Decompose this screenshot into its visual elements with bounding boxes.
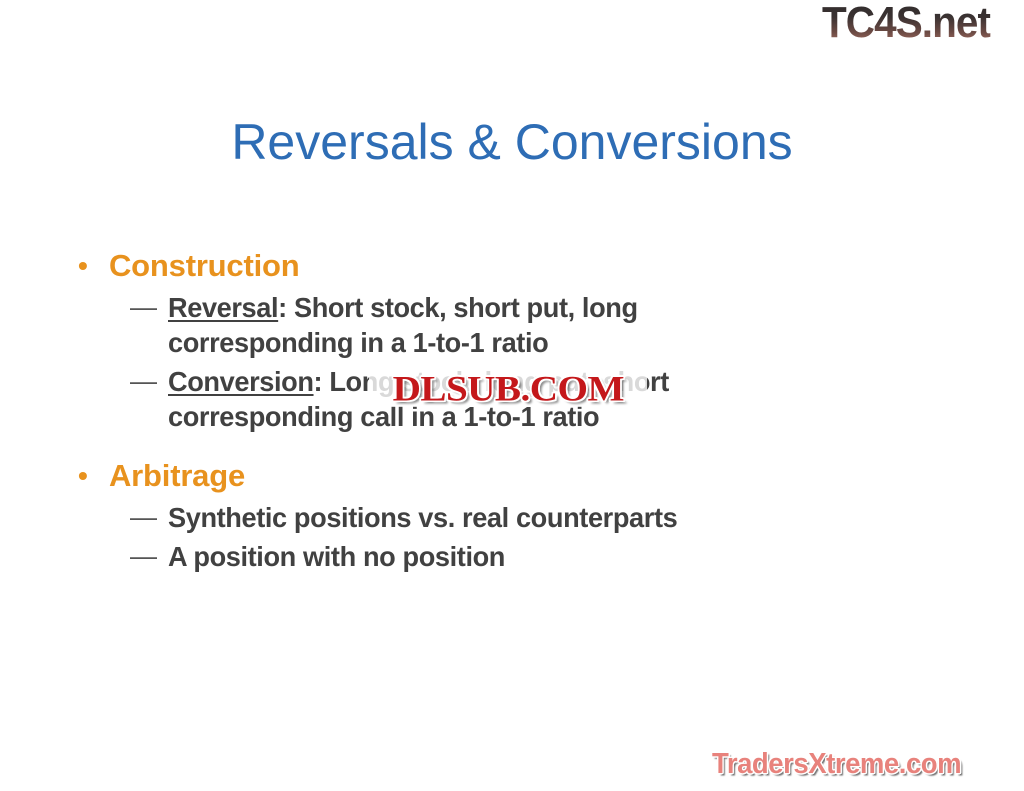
presentation-slide: TC4S.net Reversals & Conversions • Const… [0,0,1024,791]
bullet-level1-label: Construction [109,246,299,286]
tc4s-logo: TC4S.net [822,0,990,48]
slide-body: • Construction — Reversal: Short stock, … [78,246,958,574]
bullet-level1-construction: • Construction [78,246,958,286]
bullet-dot-icon: • [78,456,109,496]
bullet-level2-rest: Synthetic positions vs. real counterpart… [168,500,677,535]
bullet-level2-rest: A position with no position [168,539,505,574]
bullet-level2-reversal: — Reversal: Short stock, short put, long… [130,290,958,360]
bullet-level2-lead: Conversion [168,366,314,397]
bullet-level2-lead: Reversal [168,292,278,323]
dlsub-watermark-text: DLSUB.COM [392,371,623,407]
em-dash-icon: — [130,364,168,399]
em-dash-icon: — [130,539,168,574]
bullet-level2-synthetic-positions: — Synthetic positions vs. real counterpa… [130,500,958,535]
em-dash-icon: — [130,290,168,325]
bullet-level1-label: Arbitrage [109,456,245,496]
bullet-level2-position-with-no-position: — A position with no position [130,539,958,574]
bullet-level1-arbitrage: • Arbitrage [78,456,958,496]
group-spacer [78,434,958,456]
dlsub-watermark: DLSUB.COM [369,371,647,407]
tradersxtreme-logo: TradersXtreme.com [712,747,961,781]
bullet-level2-text: Reversal: Short stock, short put, long c… [168,290,750,360]
bullet-dot-icon: • [78,246,109,286]
em-dash-icon: — [130,500,168,535]
slide-title: Reversals & Conversions [0,112,1024,172]
